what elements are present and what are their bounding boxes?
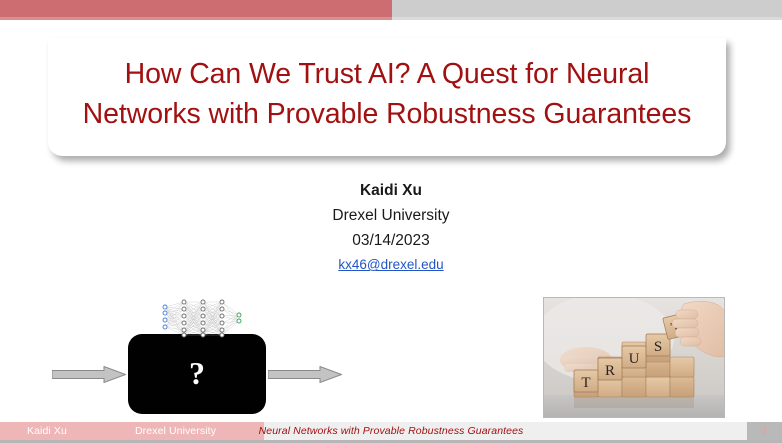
top-accent-bar-gray-shadow [392, 17, 782, 20]
svg-text:U: U [629, 351, 640, 367]
question-mark-label: ? [189, 357, 205, 389]
trust-blocks-photo: T R U S T [543, 297, 725, 418]
footer-author: Kaidi Xu [27, 425, 67, 437]
top-accent-bar-red [0, 0, 392, 17]
trust-blocks-illustration: T R U S T [544, 298, 725, 418]
black-box-diagram: ? [50, 292, 340, 418]
footer-affiliation: Drexel University [135, 425, 216, 437]
page-number: 1 [761, 425, 767, 437]
input-arrow-icon [52, 366, 126, 383]
neural-network-icon [156, 296, 246, 340]
svg-text:S: S [654, 339, 662, 355]
author-name: Kaidi Xu [0, 178, 782, 203]
black-box-model: ? [128, 334, 266, 414]
footer-page-indicator: 1 [747, 422, 782, 440]
author-block: Kaidi Xu Drexel University 03/14/2023 kx… [0, 178, 782, 277]
svg-text:T: T [581, 375, 590, 391]
author-email-link[interactable]: kx46@drexel.edu [338, 253, 443, 277]
presentation-date: 03/14/2023 [0, 228, 782, 253]
svg-text:R: R [605, 363, 615, 379]
footer-presentation-title: Neural Networks with Provable Robustness… [0, 425, 782, 437]
author-email-row: kx46@drexel.edu [0, 253, 782, 277]
title-card: How Can We Trust AI? A Quest for Neural … [48, 38, 726, 156]
top-accent-bar-red-shadow [0, 17, 392, 20]
author-affiliation: Drexel University [0, 203, 782, 228]
slide-footer: Neural Networks with Provable Robustness… [0, 422, 782, 443]
page-title: How Can We Trust AI? A Quest for Neural … [83, 54, 692, 135]
output-arrow-icon [268, 366, 342, 383]
